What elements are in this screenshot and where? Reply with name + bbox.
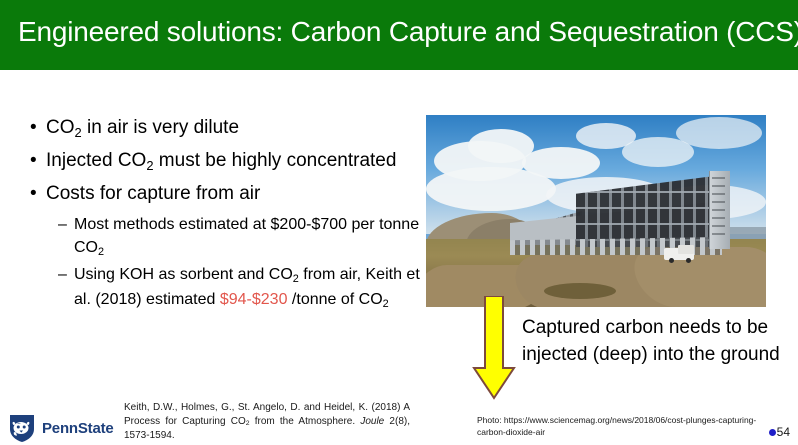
bullet-item-3: • Costs for capture from air bbox=[30, 181, 430, 207]
sub-bullet-item-1: – Most methods estimated at $200-$700 pe… bbox=[58, 213, 430, 261]
callout-caption: Captured carbon needs to be injected (de… bbox=[522, 314, 790, 368]
cloud-shape bbox=[676, 117, 762, 149]
bullet-text-2: Injected CO2 must be highly concentrated bbox=[46, 148, 396, 175]
bullet-text-1: CO2 in air is very dilute bbox=[46, 115, 239, 142]
white-truck-bed bbox=[678, 245, 694, 254]
plant-tower-detail bbox=[712, 177, 725, 239]
pennstate-wordmark: PennState bbox=[42, 420, 114, 437]
slide-canvas: Engineered solutions: Carbon Capture and… bbox=[0, 0, 798, 445]
sub-bullet-text-1: Most methods estimated at $200-$700 per … bbox=[74, 213, 424, 261]
slide-number-text: 54 bbox=[777, 425, 790, 439]
sub-bullet-text-2: Using KOH as sorbent and CO2 from air, K… bbox=[74, 263, 424, 313]
slide-number: 54 bbox=[769, 425, 790, 439]
bullet-item-2: • Injected CO2 must be highly concentrat… bbox=[30, 148, 430, 175]
cloud-shape bbox=[426, 167, 556, 211]
dash-marker-icon: – bbox=[58, 263, 74, 286]
slide-title: Engineered solutions: Carbon Capture and… bbox=[18, 16, 788, 48]
truck-wheel bbox=[669, 258, 674, 263]
bullet-marker-icon: • bbox=[30, 115, 46, 141]
reference-citation: Keith, D.W., Holmes, G., St. Angelo, D. … bbox=[124, 401, 410, 443]
bullet-marker-icon: • bbox=[30, 148, 46, 174]
bullet-item-1: • CO2 in air is very dilute bbox=[30, 115, 430, 142]
pennstate-shield-icon bbox=[8, 413, 36, 443]
down-arrow-icon bbox=[472, 296, 516, 400]
photo-credit: Photo: https://www.sciencemag.org/news/2… bbox=[477, 415, 767, 438]
dash-marker-icon: – bbox=[58, 213, 74, 236]
slide-title-band: Engineered solutions: Carbon Capture and… bbox=[0, 0, 798, 70]
bullet-marker-icon: • bbox=[30, 181, 46, 207]
dac-plant-photo bbox=[426, 115, 766, 307]
pennstate-logo: PennState bbox=[8, 412, 120, 444]
slide-number-dot-icon bbox=[769, 429, 776, 436]
journal-name: Joule bbox=[360, 416, 384, 427]
truck-wheel bbox=[686, 258, 691, 263]
bullet-list: • CO2 in air is very dilute • Injected C… bbox=[30, 115, 430, 315]
bullet-text-3: Costs for capture from air bbox=[46, 181, 260, 207]
sub-bullet-item-2: – Using KOH as sorbent and CO2 from air,… bbox=[58, 263, 430, 313]
ground-patch bbox=[544, 283, 616, 299]
price-range-highlight: $94-$230 bbox=[220, 291, 288, 308]
